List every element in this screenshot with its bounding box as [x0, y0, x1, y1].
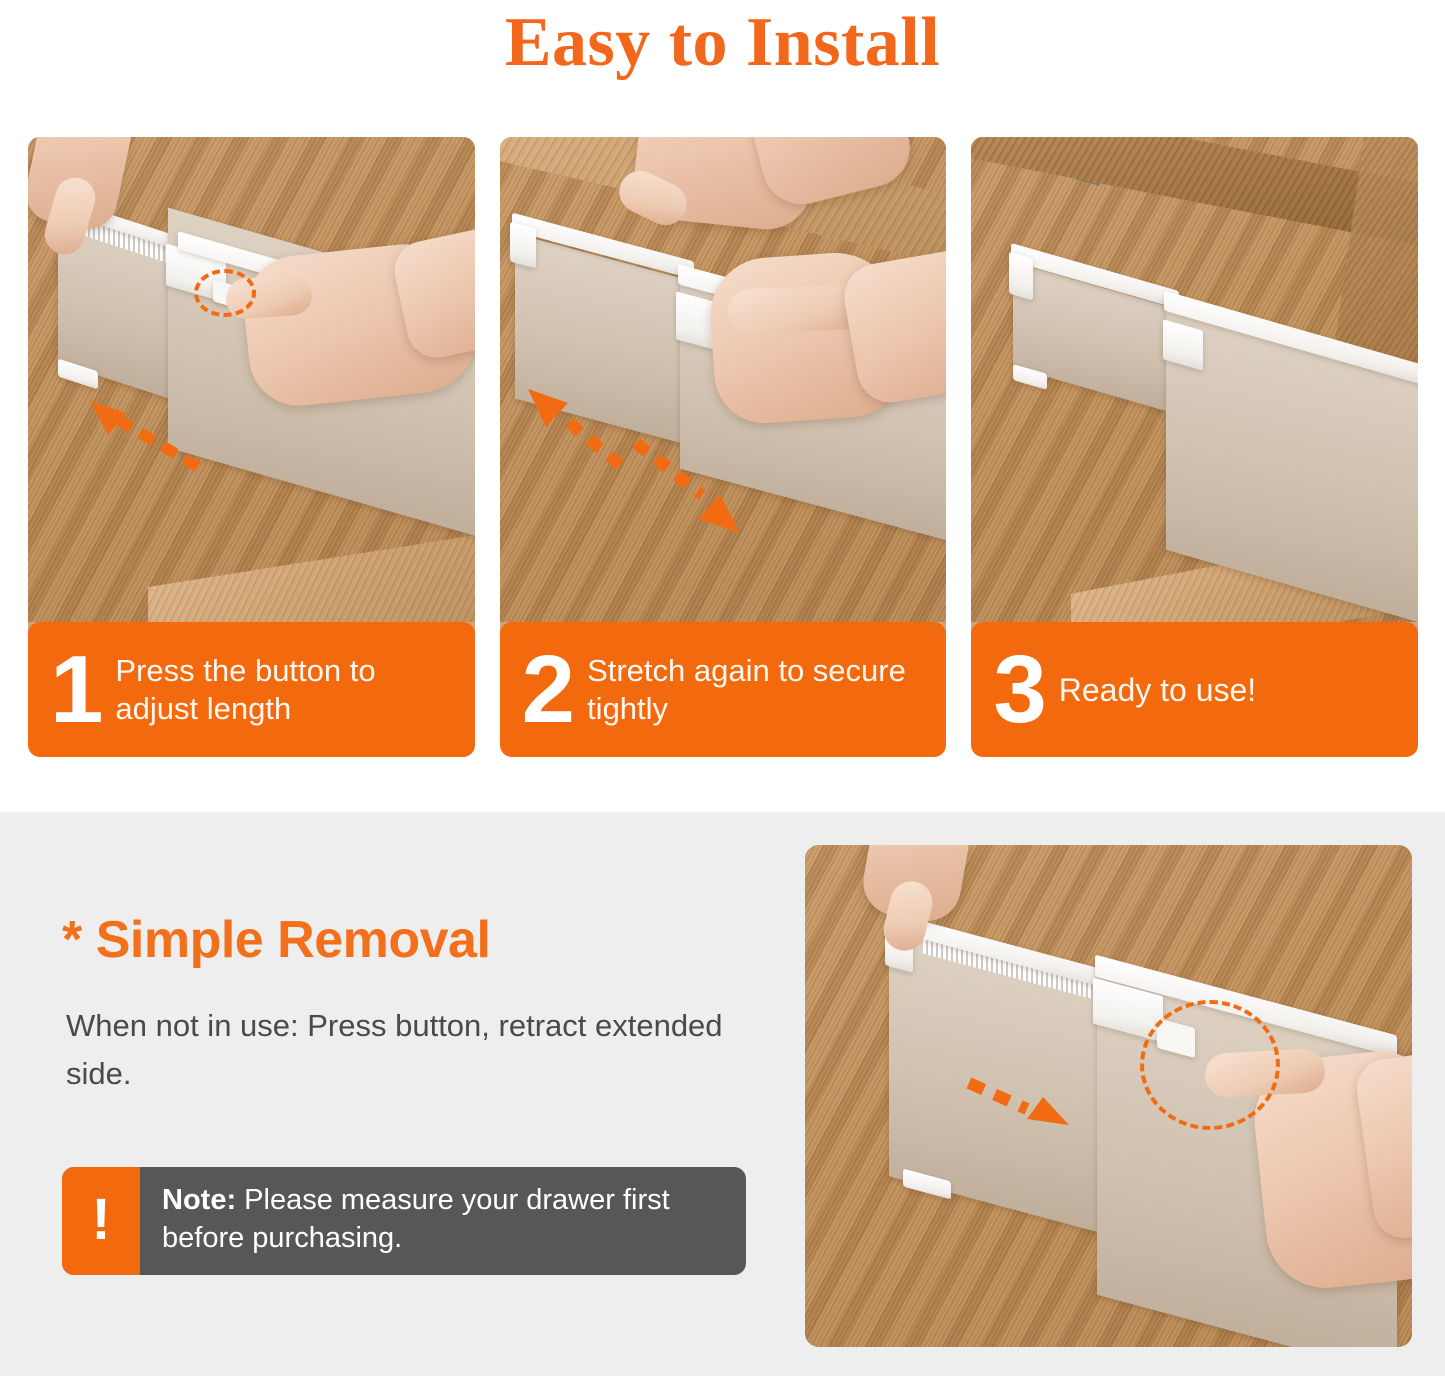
step-2-photo — [500, 137, 947, 622]
note-banner: ! Note: Please measure your drawer first… — [62, 1167, 746, 1275]
exclamation-icon: ! — [62, 1167, 140, 1275]
button-highlight-circle — [1140, 1000, 1280, 1130]
dashed-arrow-down-right — [628, 435, 758, 545]
step-1-caption: 1 Press the button to adjust length — [28, 622, 475, 757]
steps-row: 1 Press the button to adjust length — [28, 137, 1418, 757]
divider-left-endcap — [510, 222, 536, 269]
dashed-arrow-right — [965, 1075, 1085, 1135]
removal-star: * — [62, 911, 82, 969]
note-body: Please measure your drawer first before … — [162, 1184, 670, 1254]
button-highlight-circle — [194, 269, 256, 317]
step-3-caption: 3 Ready to use! — [971, 622, 1418, 757]
step-2-text: Stretch again to secure tightly — [587, 652, 932, 728]
step-1-text: Press the button to adjust length — [115, 652, 460, 728]
removal-heading: * Simple Removal — [62, 910, 490, 970]
step-panel-1: 1 Press the button to adjust length — [28, 137, 475, 757]
divider-left-endcap — [1009, 252, 1033, 301]
dashed-arrow-up-left — [520, 387, 640, 487]
page-title: Easy to Install — [0, 2, 1445, 84]
step-1-number: 1 — [50, 642, 101, 738]
step-2-caption: 2 Stretch again to secure tightly — [500, 622, 947, 757]
removal-section: * Simple Removal When not in use: Press … — [0, 812, 1445, 1376]
dashed-arrow-left — [80, 399, 210, 479]
note-label: Note: — [162, 1184, 236, 1216]
note-text: Note: Please measure your drawer first b… — [140, 1167, 746, 1275]
step-1-photo — [28, 137, 475, 622]
step-3-photo — [971, 137, 1418, 622]
step-panel-2: 2 Stretch again to secure tightly — [500, 137, 947, 757]
note-bang-glyph: ! — [91, 1191, 110, 1249]
removal-photo — [805, 845, 1412, 1347]
install-section: Easy to Install — [0, 0, 1445, 812]
step-3-number: 3 — [993, 642, 1044, 738]
removal-heading-text: Simple Removal — [96, 911, 491, 969]
step-3-text: Ready to use! — [1059, 671, 1404, 709]
step-2-number: 2 — [522, 642, 573, 738]
step-panel-3: 3 Ready to use! — [971, 137, 1418, 757]
removal-body-text: When not in use: Press button, retract e… — [66, 1002, 766, 1098]
